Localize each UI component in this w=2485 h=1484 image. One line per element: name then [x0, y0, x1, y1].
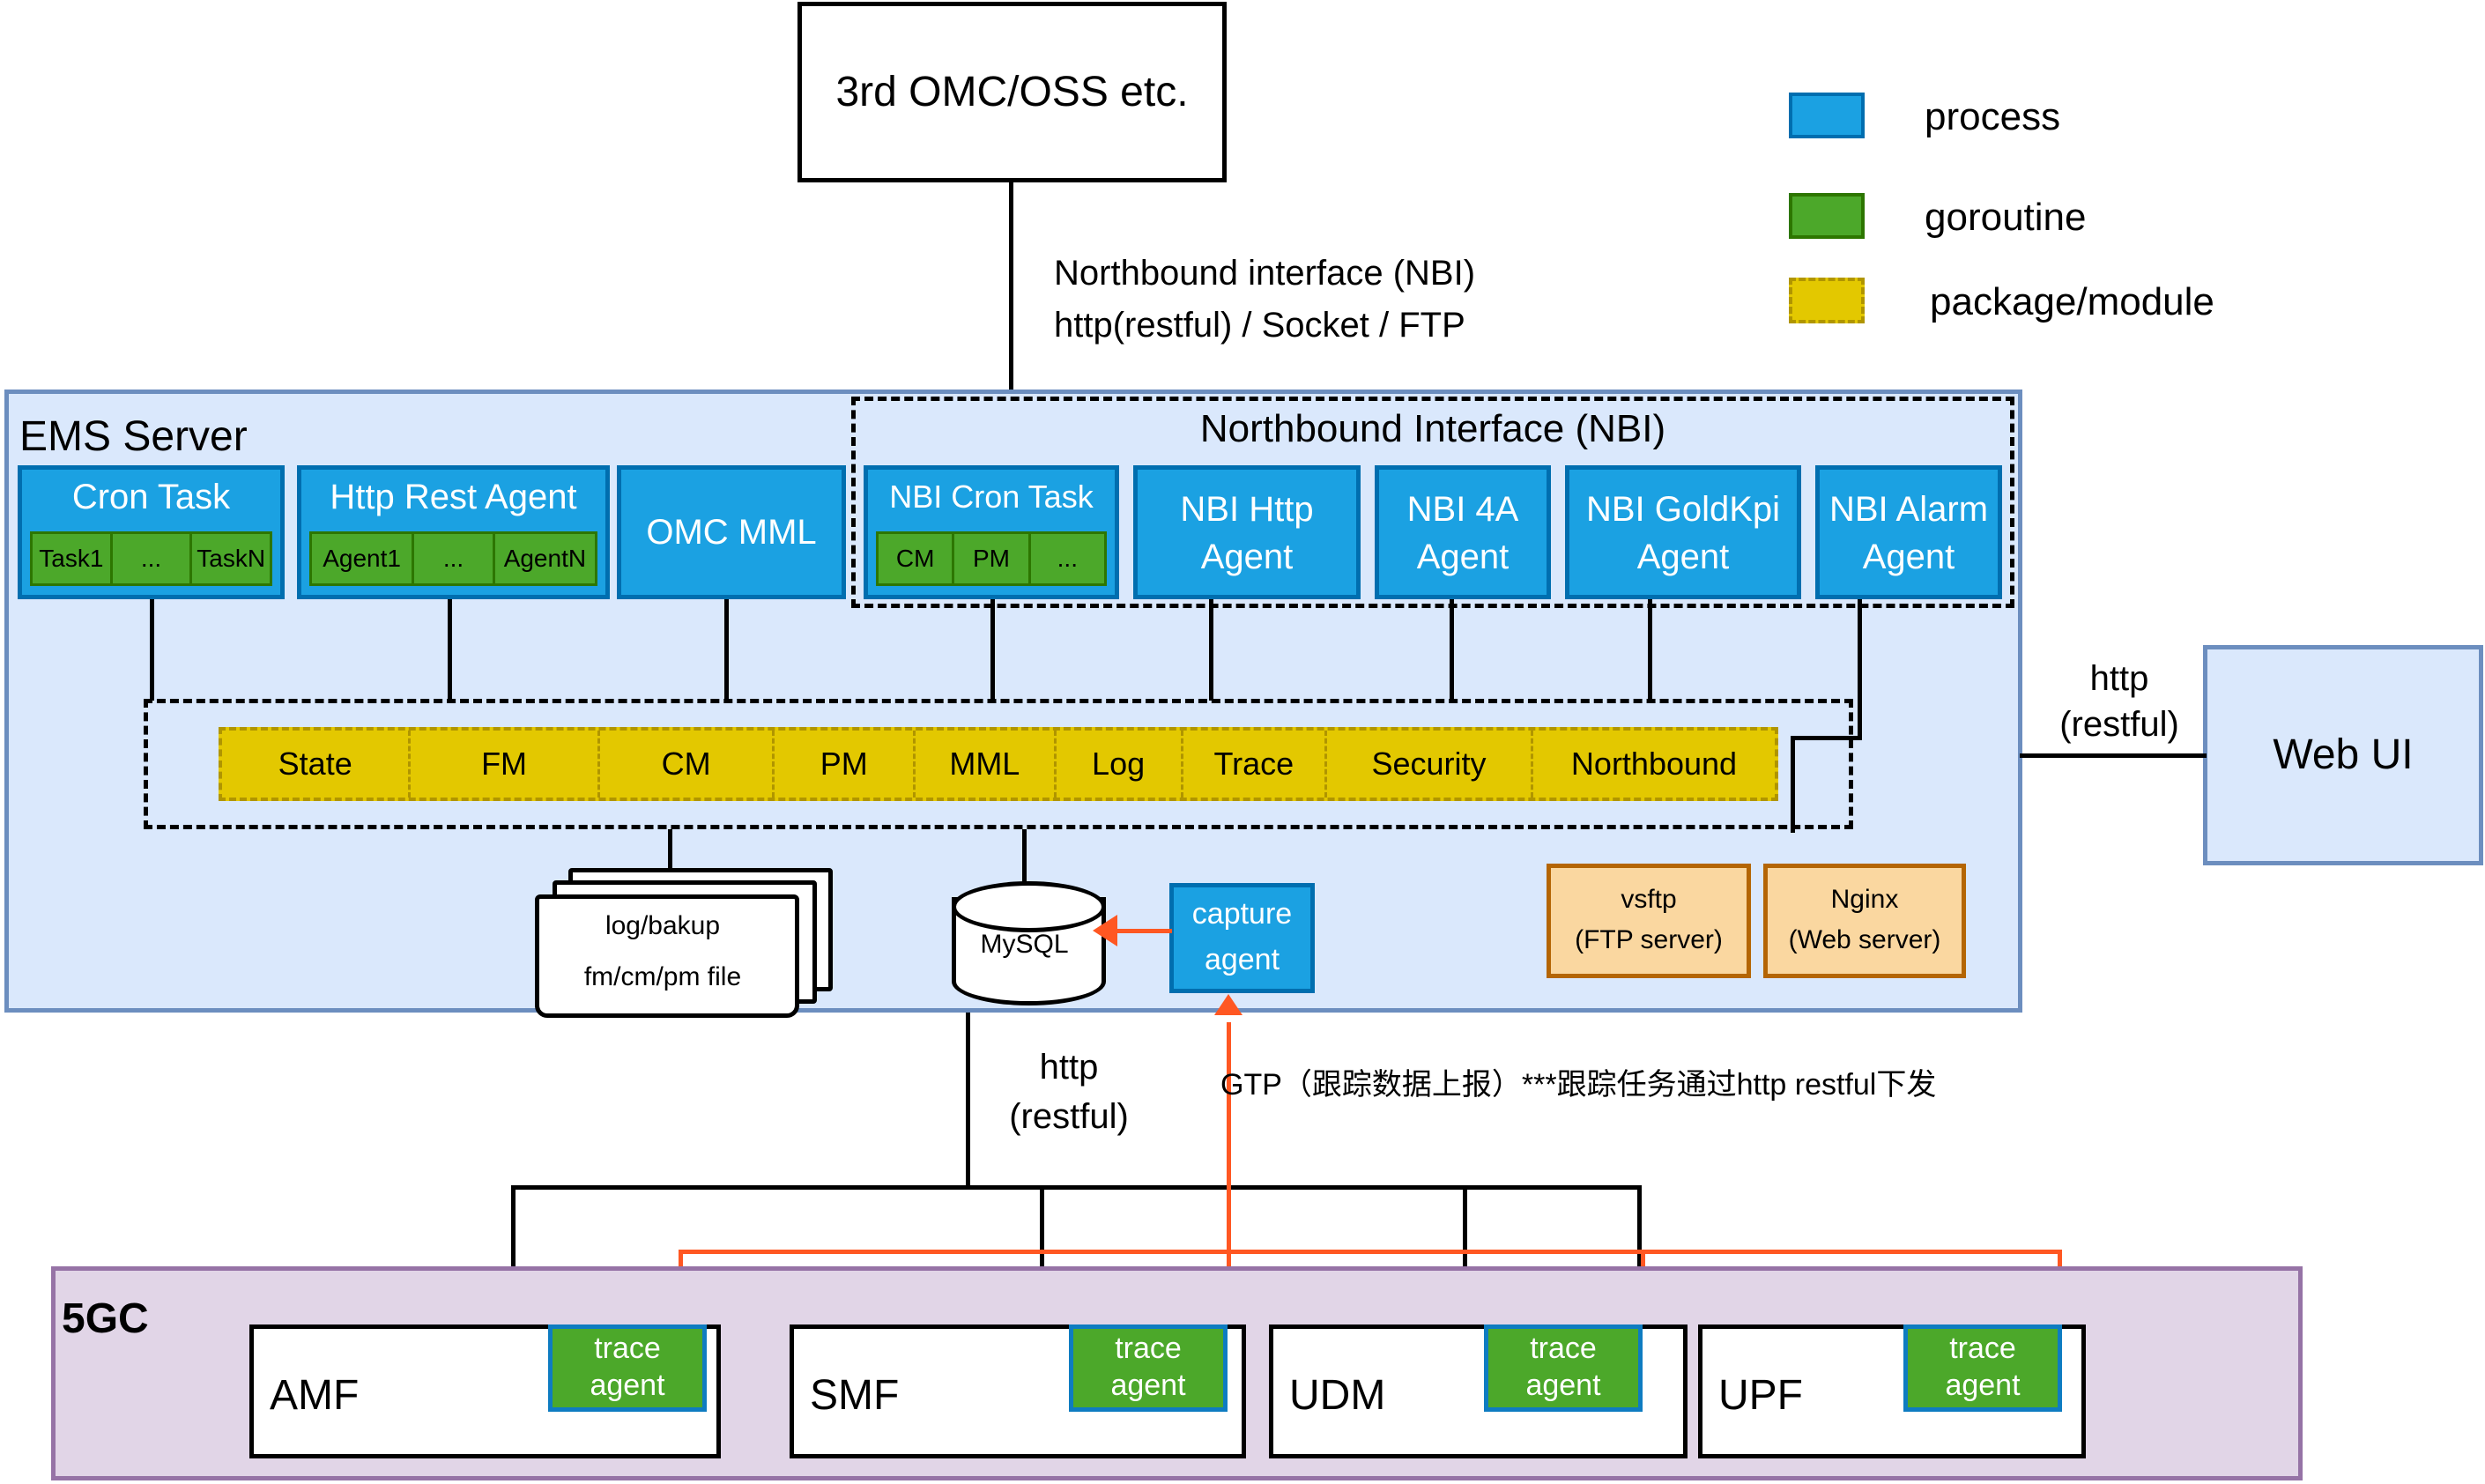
gtp-trunk-vertical — [1227, 1022, 1231, 1251]
goroutine-nbi-ellipsis: ... — [1031, 531, 1107, 586]
process-nbi-alarm-agent[interactable]: NBI Alarm Agent — [1815, 465, 2002, 599]
connector-ems-to-core-http — [966, 1013, 970, 1187]
goroutine-ellipsis: ... — [113, 531, 193, 586]
process-nbi-http-agent-label-1: NBI Http — [1138, 489, 1356, 530]
module-pm[interactable]: PM — [775, 731, 916, 798]
goroutine-nbi-pm[interactable]: PM — [954, 531, 1030, 586]
process-nbi-alarm-agent-label-2: Agent — [1820, 537, 1998, 577]
legend-label-goroutine: goroutine — [1925, 196, 2086, 240]
server-nginx-label-2: (Web server) — [1768, 923, 1962, 958]
connector-nbi-alarm-segment-1 — [1858, 599, 1862, 740]
trace-agent-udm-label-1: trace — [1488, 1331, 1638, 1368]
mysql-label: MySQL — [952, 927, 1097, 962]
goroutine-task1[interactable]: Task1 — [30, 531, 113, 586]
process-omc-mml-label: OMC MML — [646, 512, 816, 553]
trace-agent-udm-label-2: agent — [1488, 1368, 1638, 1405]
process-cron-task[interactable]: Cron Task Task1 ... TaskN — [18, 465, 285, 599]
goroutine-agent-ellipsis: ... — [414, 531, 495, 586]
process-nbi-goldkpi-agent-label-1: NBI GoldKpi — [1569, 489, 1797, 530]
module-log[interactable]: Log — [1057, 731, 1183, 798]
nf-smf-label: SMF — [810, 1371, 899, 1420]
process-cron-task-label: Cron Task — [22, 475, 280, 519]
ems-server-title: EMS Server — [19, 412, 248, 461]
capture-to-mysql-line — [1116, 929, 1172, 933]
process-nbi-cron-task-label: NBI Cron Task — [868, 475, 1115, 519]
module-cm[interactable]: CM — [600, 731, 775, 798]
gtp-bus-horizontal — [679, 1250, 2062, 1254]
file-stack-label-line2: fm/cm/pm file — [535, 960, 790, 995]
file-stack-label-line1: log/bakup — [535, 909, 790, 944]
process-nbi-goldkpi-agent[interactable]: NBI GoldKpi Agent — [1565, 465, 1801, 599]
process-nbi-http-agent-label-2: Agent — [1138, 537, 1356, 577]
web-ui-link-label-2: (restful) — [2036, 705, 2203, 744]
connector-nbi-goldkpi-to-modules — [1648, 599, 1652, 701]
process-nbi-cron-task-goroutines: CM PM ... — [876, 531, 1107, 586]
connector-http-rest-agent-to-modules — [448, 599, 452, 701]
process-omc-mml[interactable]: OMC MML — [617, 465, 846, 599]
connector-nbi-cron-task-to-modules — [990, 599, 995, 701]
connector-nbi-alarm-segment-2 — [1791, 736, 1862, 740]
web-ui-box[interactable]: Web UI — [2203, 645, 2483, 865]
legend-swatch-goroutine — [1789, 193, 1865, 239]
legend-swatch-process — [1789, 93, 1865, 138]
module-bar: State FM CM PM MML Log Trace Security No… — [219, 727, 1778, 801]
server-vsftp-label-2: (FTP server) — [1551, 923, 1747, 958]
process-nbi-cron-task[interactable]: NBI Cron Task CM PM ... — [864, 465, 1119, 599]
trace-agent-upf[interactable]: trace agent — [1903, 1324, 2062, 1412]
process-nbi-http-agent[interactable]: NBI Http Agent — [1133, 465, 1361, 599]
gtp-trunk-arrowhead — [1214, 994, 1242, 1015]
trace-agent-upf-label-2: agent — [1908, 1368, 2058, 1405]
process-cron-task-goroutines: Task1 ... TaskN — [30, 531, 272, 586]
process-nbi-4a-agent[interactable]: NBI 4A Agent — [1375, 465, 1551, 599]
legend-label-process: process — [1925, 95, 2060, 139]
http-link-label-2: (restful) — [985, 1096, 1153, 1137]
web-ui-label: Web UI — [2273, 731, 2413, 779]
trace-agent-amf-label-1: trace — [553, 1331, 702, 1368]
goroutine-taskn[interactable]: TaskN — [192, 531, 272, 586]
nbi-uplink-label-line1: Northbound interface (NBI) — [1054, 254, 1475, 293]
trace-agent-amf[interactable]: trace agent — [548, 1324, 707, 1412]
nf-upf-label: UPF — [1718, 1371, 1803, 1420]
trace-agent-amf-label-2: agent — [553, 1368, 702, 1405]
diagram-canvas: 3rd OMC/OSS etc. Northbound interface (N… — [0, 0, 2485, 1484]
module-trace[interactable]: Trace — [1183, 731, 1327, 798]
mysql-cylinder-top — [952, 881, 1106, 932]
goroutine-agent1[interactable]: Agent1 — [309, 531, 414, 586]
file-stack: log/bakup fm/cm/pm file — [533, 868, 833, 1000]
trace-agent-smf-label-2: agent — [1073, 1368, 1223, 1405]
trace-agent-upf-label-1: trace — [1908, 1331, 2058, 1368]
web-ui-link-label-1: http — [2036, 659, 2203, 698]
connector-nbi-http-agent-to-modules — [1209, 599, 1213, 701]
process-nbi-goldkpi-agent-label-2: Agent — [1569, 537, 1797, 577]
process-capture-agent-label-2: agent — [1174, 942, 1310, 979]
server-vsftp-label-1: vsftp — [1551, 882, 1747, 917]
server-nginx[interactable]: Nginx (Web server) — [1763, 864, 1966, 978]
connector-omc-mml-to-modules — [724, 599, 729, 701]
external-system-label: 3rd OMC/OSS etc. — [835, 68, 1188, 116]
server-vsftp[interactable]: vsftp (FTP server) — [1547, 864, 1751, 978]
http-link-label-1: http — [985, 1047, 1153, 1087]
module-northbound[interactable]: Northbound — [1533, 731, 1775, 798]
process-http-rest-agent-label: Http Rest Agent — [301, 475, 605, 519]
module-fm[interactable]: FM — [411, 731, 599, 798]
nf-amf-label: AMF — [270, 1371, 359, 1420]
trace-agent-smf[interactable]: trace agent — [1069, 1324, 1228, 1412]
process-capture-agent-label-1: capture — [1174, 896, 1310, 933]
core-bus-horizontal — [511, 1185, 1642, 1190]
legend-label-package: package/module — [1930, 280, 2214, 324]
process-http-rest-agent-goroutines: Agent1 ... AgentN — [309, 531, 597, 586]
connector-ems-to-web-ui — [2020, 753, 2207, 758]
process-nbi-alarm-agent-label-1: NBI Alarm — [1820, 489, 1998, 530]
external-system-box[interactable]: 3rd OMC/OSS etc. — [797, 2, 1227, 182]
legend: process goroutine package/module — [1789, 93, 2318, 339]
connector-nbi-alarm-segment-3 — [1791, 736, 1795, 833]
gtp-note-label: GTP（跟踪数据上报）***跟踪任务通过http restful下发 — [1220, 1060, 1936, 1103]
process-capture-agent[interactable]: capture agent — [1169, 883, 1315, 993]
module-state[interactable]: State — [222, 731, 411, 798]
core-network-title: 5GC — [62, 1295, 149, 1343]
mysql-database[interactable]: MySQL — [952, 881, 1097, 1000]
goroutine-nbi-cm[interactable]: CM — [876, 531, 954, 586]
connector-cron-task-to-modules — [150, 599, 154, 701]
goroutine-agentn[interactable]: AgentN — [495, 531, 597, 586]
nbi-uplink-label-line2: http(restful) / Socket / FTP — [1054, 306, 1465, 345]
process-nbi-4a-agent-label-2: Agent — [1379, 537, 1547, 577]
trace-agent-udm[interactable]: trace agent — [1484, 1324, 1643, 1412]
nbi-group-title: Northbound Interface (NBI) — [851, 407, 2014, 451]
nf-udm-label: UDM — [1289, 1371, 1385, 1420]
module-mml[interactable]: MML — [916, 731, 1057, 798]
capture-to-mysql-arrowhead — [1093, 915, 1117, 946]
process-nbi-4a-agent-label-1: NBI 4A — [1379, 489, 1547, 530]
nbi-uplink-line — [1009, 182, 1013, 397]
module-security[interactable]: Security — [1327, 731, 1533, 798]
connector-modules-to-mysql — [1022, 829, 1027, 886]
server-nginx-label-1: Nginx — [1768, 882, 1962, 917]
trace-agent-smf-label-1: trace — [1073, 1331, 1223, 1368]
connector-nbi-4a-agent-to-modules — [1450, 599, 1454, 701]
process-http-rest-agent[interactable]: Http Rest Agent Agent1 ... AgentN — [297, 465, 610, 599]
legend-swatch-package — [1789, 278, 1865, 323]
